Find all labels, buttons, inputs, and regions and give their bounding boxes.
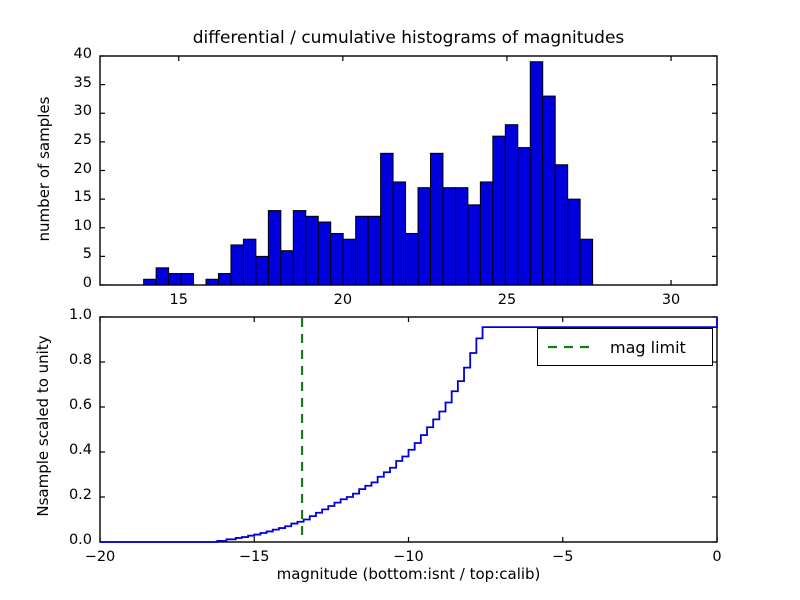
- histogram-bar: [480, 182, 492, 285]
- histogram-bar: [293, 211, 305, 285]
- histogram-bar: [505, 125, 517, 285]
- histogram-bar: [493, 136, 505, 285]
- top-ytick-0: 0: [28, 275, 92, 291]
- legend[interactable]: mag limit: [537, 328, 713, 366]
- histogram-bar: [368, 216, 380, 285]
- bottom-xtick-4: 0: [687, 549, 747, 565]
- bottom-ytick-1: 0.2: [24, 487, 92, 503]
- bottom-ytick-0: 0.0: [24, 532, 92, 548]
- legend-label-mag-limit: mag limit: [610, 338, 686, 357]
- histogram-bar: [555, 165, 567, 285]
- histogram-bar: [218, 274, 230, 285]
- bottom-ytick-2: 0.4: [24, 442, 92, 458]
- bottom-ytick-4: 0.8: [24, 352, 92, 368]
- histogram-bar: [181, 274, 193, 285]
- top-ytick-5: 25: [28, 132, 92, 148]
- bottom-xtick-1: −15: [224, 549, 284, 565]
- legend-swatch-mag-limit: [546, 338, 598, 356]
- x-axis-label: magnitude (bottom:isnt / top:calib): [100, 565, 717, 583]
- top-ytick-7: 35: [28, 75, 92, 91]
- top-ytick-1: 5: [28, 246, 92, 262]
- bottom-xtick-3: −5: [533, 549, 593, 565]
- histogram-bar: [343, 239, 355, 285]
- histogram-bar: [543, 96, 555, 285]
- histogram-bar: [468, 205, 480, 285]
- histogram-bar: [331, 233, 343, 285]
- bottom-ytick-3: 0.6: [24, 397, 92, 413]
- bottom-xtick-2: −10: [379, 549, 439, 565]
- histogram-bar: [281, 251, 293, 285]
- top-ytick-6: 30: [28, 103, 92, 119]
- histogram-bars: [144, 62, 593, 285]
- histogram-bar: [393, 182, 405, 285]
- top-ytick-8: 40: [28, 46, 92, 62]
- top-ytick-3: 15: [28, 189, 92, 205]
- histogram-bar: [518, 148, 530, 285]
- histogram-bar: [406, 233, 418, 285]
- bottom-panel-y-axis-label: Nsample scaled to unity: [34, 311, 52, 541]
- histogram-bar: [455, 188, 467, 285]
- histogram-bar: [156, 268, 168, 285]
- histogram-bar: [206, 279, 218, 285]
- histogram-bar: [356, 216, 368, 285]
- histogram-bar: [443, 188, 455, 285]
- histogram-bar: [381, 153, 393, 285]
- figure: differential / cumulative histograms of …: [0, 0, 800, 600]
- histogram-bar: [430, 153, 442, 285]
- bottom-xtick-0: −20: [70, 549, 130, 565]
- histogram-bar: [169, 274, 181, 285]
- top-ytick-4: 20: [28, 161, 92, 177]
- histogram-bar: [256, 256, 268, 285]
- histogram-bar: [530, 62, 542, 285]
- histogram-bar: [418, 188, 430, 285]
- top-ytick-2: 10: [28, 218, 92, 234]
- histogram-bar: [568, 199, 580, 285]
- figure-title: differential / cumulative histograms of …: [100, 28, 717, 48]
- bottom-ytick-5: 1.0: [24, 307, 92, 323]
- differential-histogram-panel: differential / cumulative histograms of …: [0, 0, 800, 300]
- histogram-bar: [243, 239, 255, 285]
- histogram-bar: [318, 222, 330, 285]
- histogram-bar: [580, 239, 592, 285]
- histogram-bar: [268, 211, 280, 285]
- histogram-bar: [231, 245, 243, 285]
- histogram-bar: [144, 279, 156, 285]
- histogram-bar: [306, 216, 318, 285]
